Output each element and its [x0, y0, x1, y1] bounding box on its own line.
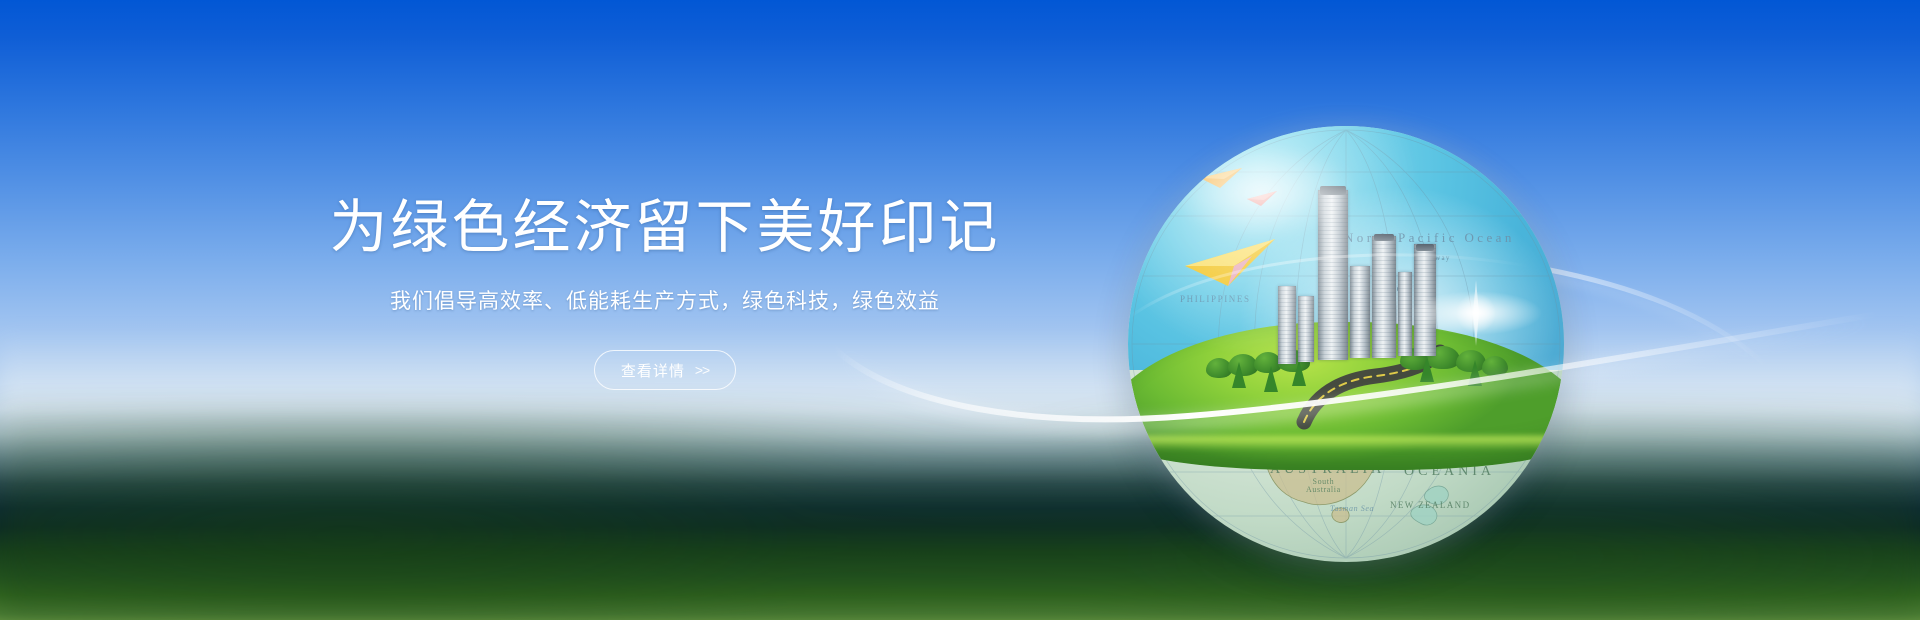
hero-headline: 为绿色经济留下美好印记: [0, 196, 1330, 261]
building: [1398, 272, 1412, 356]
cta-container: 查看详情 >>: [0, 350, 1330, 390]
tree: [1482, 356, 1508, 376]
building: [1350, 266, 1370, 358]
building-cap: [1374, 234, 1394, 241]
hero-copy-block: 为绿色经济留下美好印记 我们倡导高效率、低能耗生产方式，绿色科技，绿色效益 查看…: [0, 196, 1330, 390]
view-details-button[interactable]: 查看详情 >>: [594, 350, 736, 390]
chevron-right-icon: >>: [695, 362, 709, 378]
view-details-label: 查看详情: [621, 360, 685, 381]
building-cap: [1320, 186, 1346, 195]
building-cap: [1416, 244, 1434, 251]
building: [1372, 236, 1396, 358]
building: [1414, 244, 1436, 356]
hero-banner: North Pacific Ocean Wake Island Midway P…: [0, 0, 1920, 620]
tree: [1468, 360, 1482, 386]
hero-subheadline: 我们倡导高效率、低能耗生产方式，绿色科技，绿色效益: [0, 287, 1330, 316]
